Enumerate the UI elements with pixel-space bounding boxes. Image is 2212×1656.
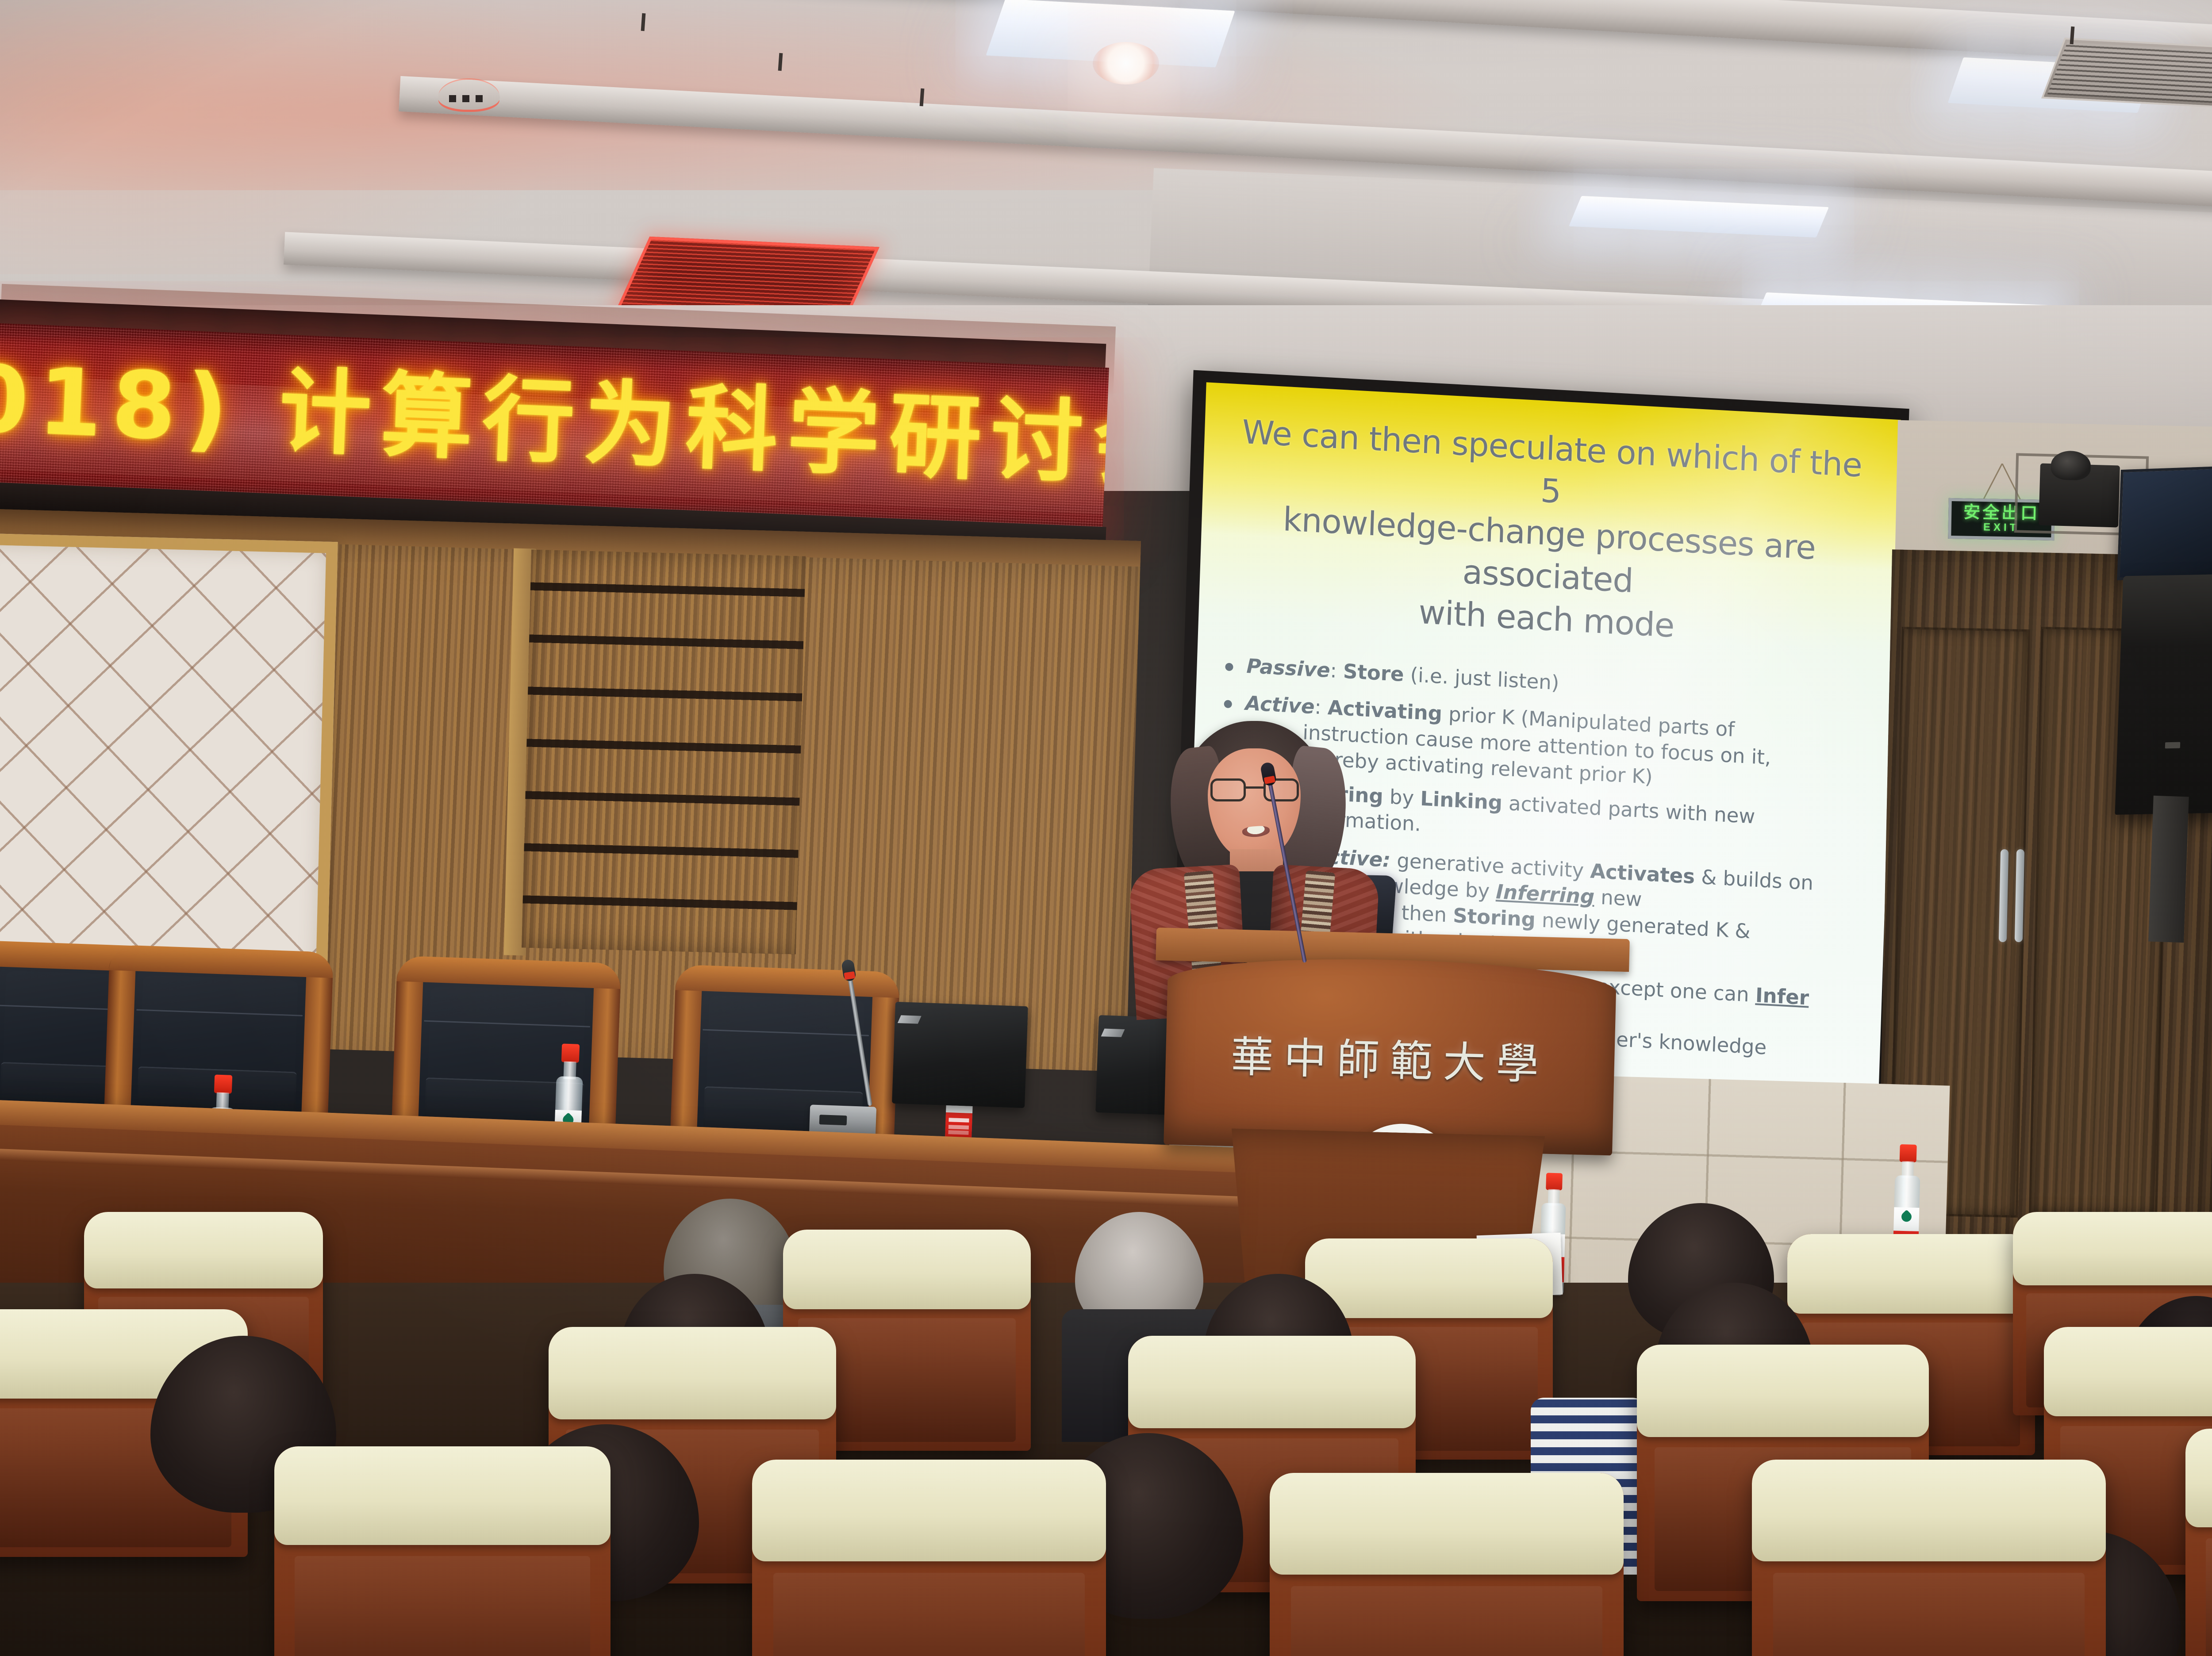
audience-seat[interactable]: [752, 1460, 1106, 1656]
audience-seat[interactable]: [1270, 1473, 1624, 1656]
seat-cushion: [2044, 1327, 2212, 1416]
seat-cushion: [1787, 1234, 2035, 1314]
slide-title-line: with each mode: [1418, 593, 1675, 645]
bottle-cap: [214, 1074, 232, 1093]
bottle-cap: [1546, 1173, 1563, 1191]
seat-cushion: [752, 1460, 1106, 1561]
podium-institution-name: 華中師範大學: [1165, 1021, 1615, 1093]
seat-cushion: [2013, 1212, 2212, 1285]
seat-back-panel: [2206, 1538, 2212, 1656]
slide-title: We can then speculate on which of the 5 …: [1222, 410, 1876, 658]
glasses-lens-left: [1210, 778, 1246, 801]
presenter-glasses: [1210, 778, 1299, 802]
seat-cushion: [1270, 1473, 1624, 1575]
seat-cushion: [1305, 1238, 1553, 1318]
bullet-text: Passive: Store (i.e. just listen): [1246, 653, 1560, 696]
speaker-mount-bracket: [2148, 796, 2189, 943]
ceiling-spotlight: [1093, 42, 1159, 84]
bottle-label-upper: [1893, 1207, 1919, 1231]
bullet-dot-icon: [1224, 700, 1232, 709]
seat-back-panel: [295, 1556, 591, 1656]
seat-cushion: [2185, 1429, 2212, 1527]
seat-cushion: [549, 1327, 836, 1419]
slide-title-line: We can then speculate on which of the 5: [1241, 413, 1863, 511]
audience-seat[interactable]: [1752, 1460, 2106, 1656]
wall-speaker: [2115, 574, 2212, 815]
seat-cushion: [783, 1230, 1031, 1309]
seat-back-panel: [1291, 1586, 1602, 1656]
bottle-cap: [561, 1043, 580, 1062]
seat-cushion: [1752, 1460, 2106, 1561]
bullet-dot-icon: [1225, 663, 1233, 671]
seat-cushion: [1128, 1336, 1416, 1428]
audience-seat[interactable]: [2185, 1429, 2212, 1656]
seat-cushion: [274, 1446, 611, 1545]
slide-title-line: knowledge-change processes are associate…: [1283, 500, 1816, 600]
podium-front-panel: 華中師範大學 华中师范大学 華大 CENTRAL CHINA NORMAL UN…: [1164, 954, 1617, 1156]
bottle-cap: [1900, 1144, 1917, 1162]
seat-back-panel: [1773, 1573, 2085, 1656]
slatted-wood-acoustic-panel: [522, 550, 806, 954]
table-monitor[interactable]: [892, 1002, 1028, 1108]
lecture-hall-photo: 018) 计算行为科学研讨会 We can then speculate on …: [0, 0, 2212, 1656]
glasses-bridge: [1246, 786, 1264, 789]
audience-seat[interactable]: [274, 1446, 611, 1656]
seat-cushion: [1637, 1345, 1929, 1437]
presenter-face: [1208, 748, 1301, 859]
ceiling-camera: [2039, 464, 2120, 528]
wall-monitor: [2117, 464, 2212, 580]
ceiling-air-vent: [2041, 38, 2212, 108]
seat-cushion: [84, 1212, 323, 1288]
seat-back-panel: [773, 1573, 1085, 1656]
